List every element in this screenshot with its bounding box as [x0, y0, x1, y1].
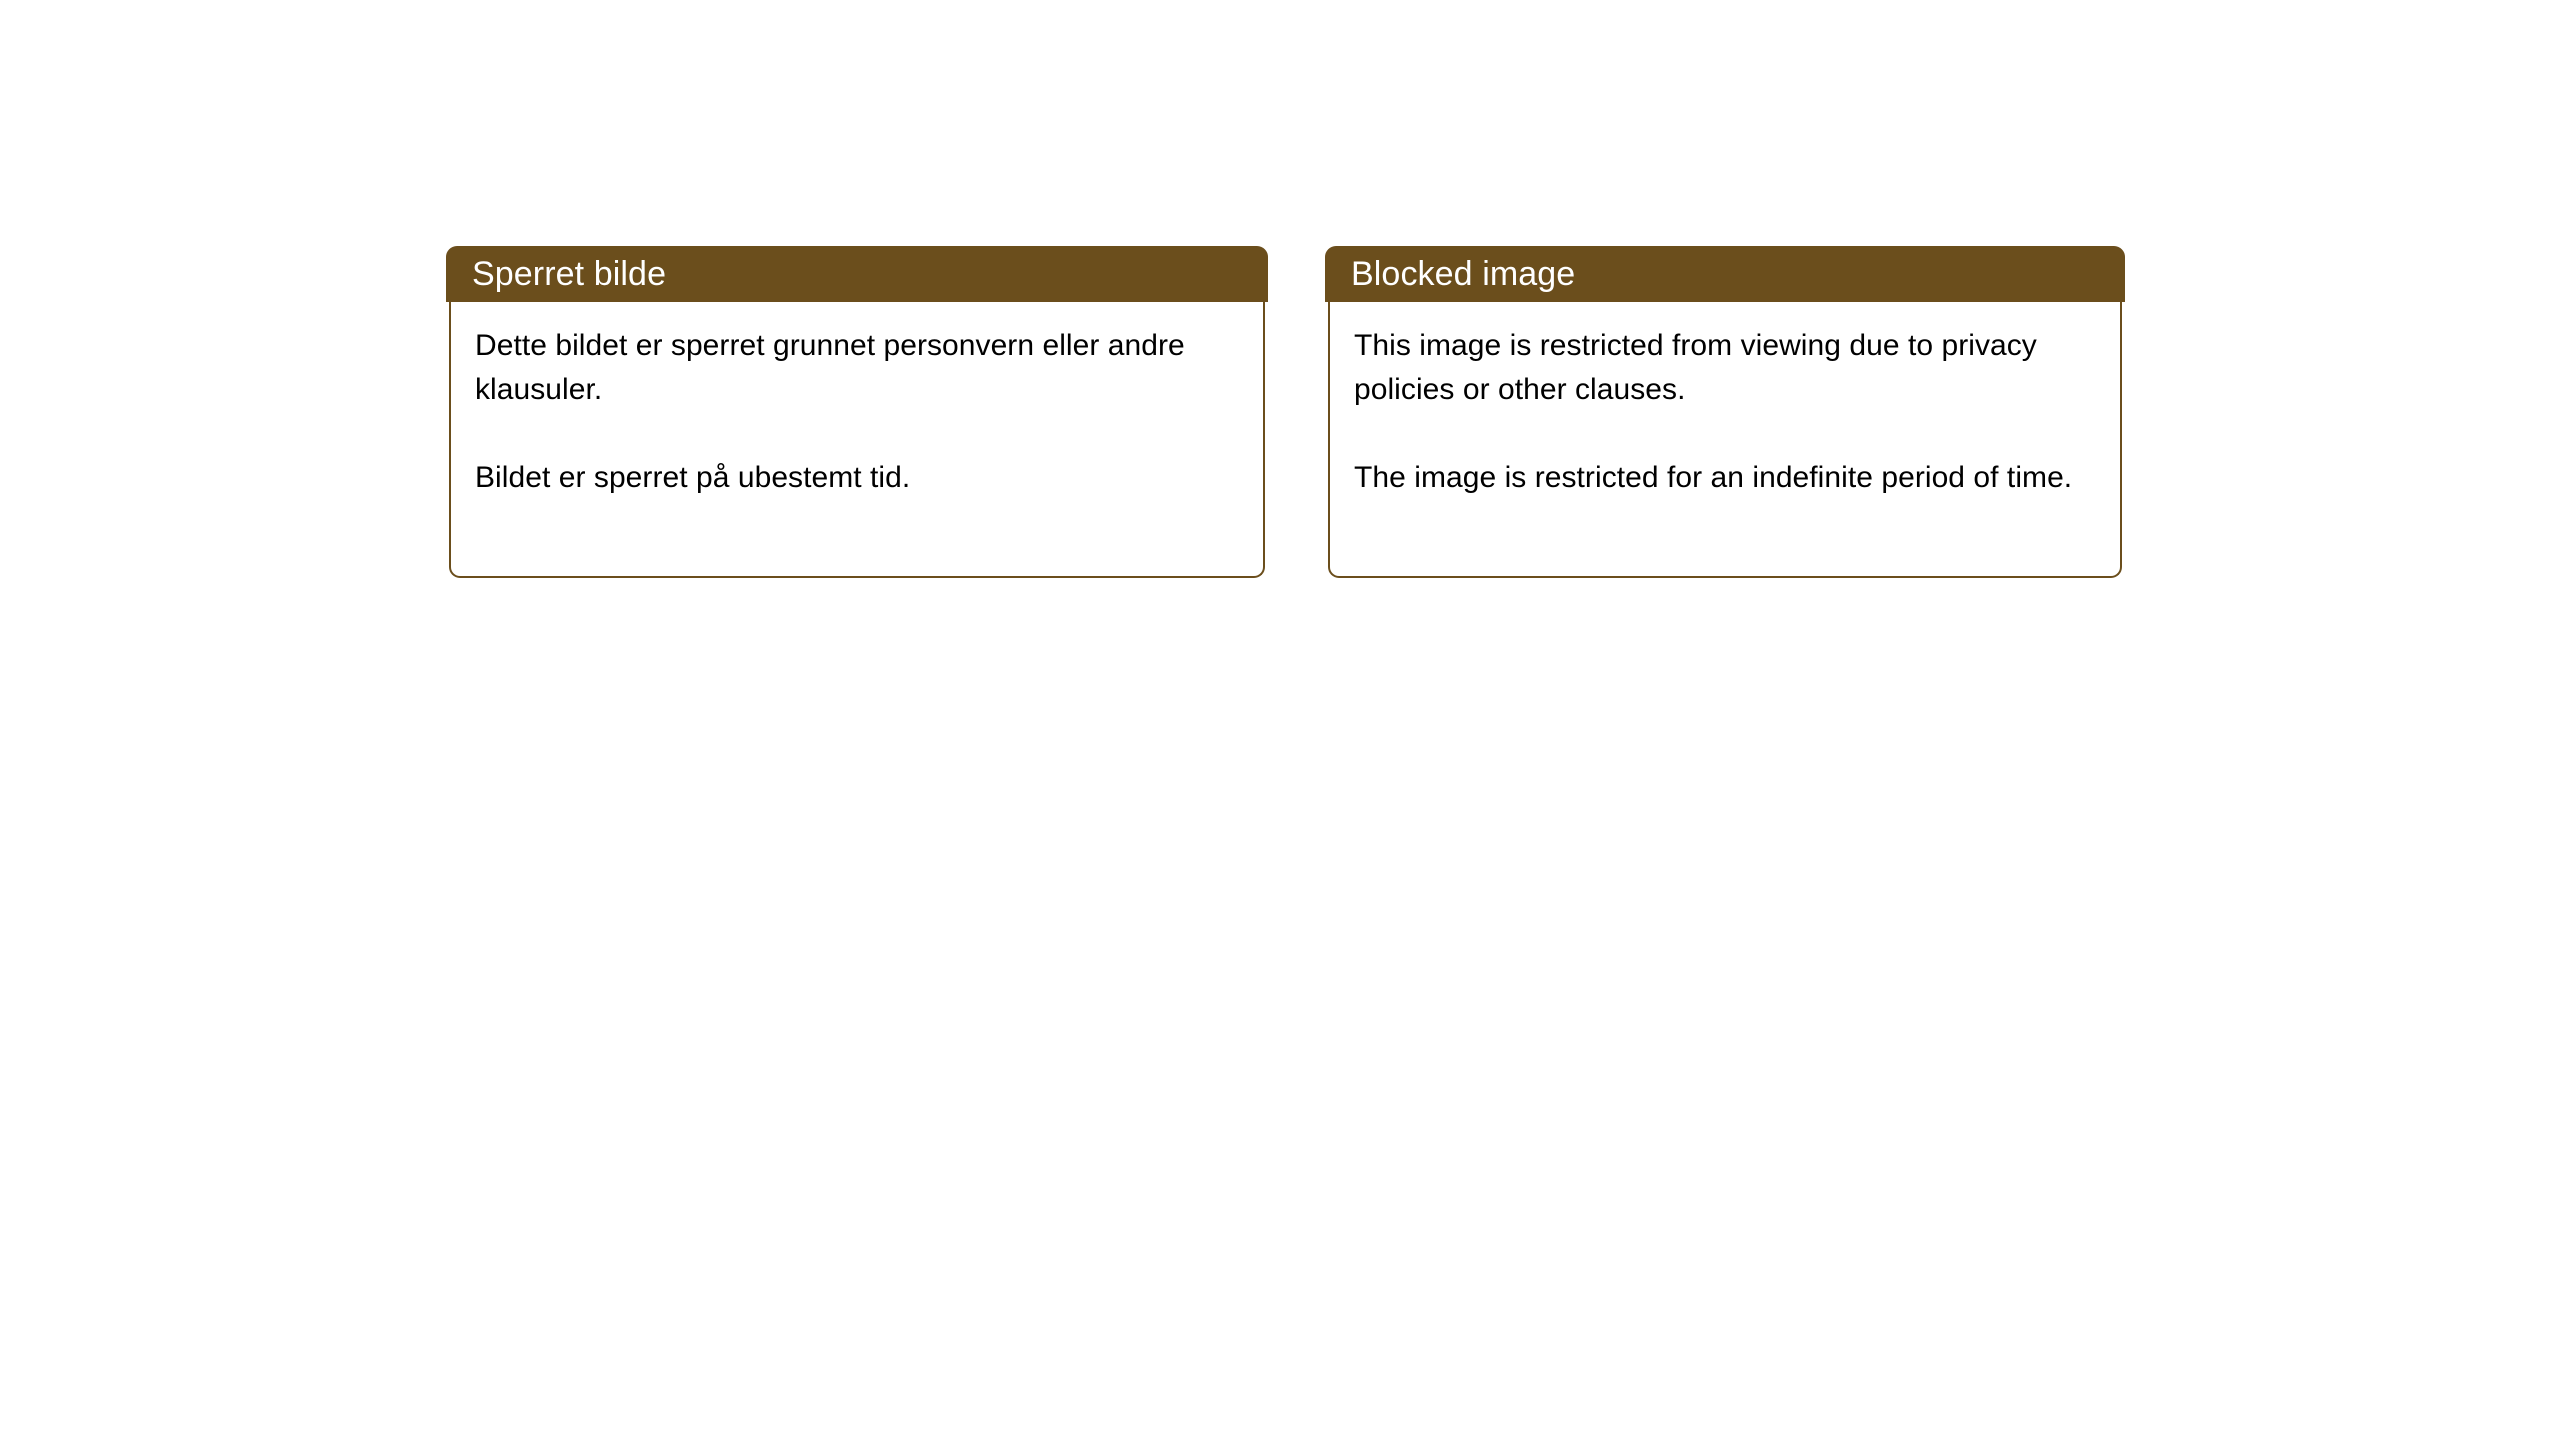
page-canvas: Sperret bilde Dette bildet er sperret gr… [0, 0, 2560, 1440]
notice-title-en: Blocked image [1351, 257, 1575, 291]
notice-header-en: Blocked image [1325, 246, 2125, 302]
notice-header-no: Sperret bilde [446, 246, 1268, 302]
notice-body-en: This image is restricted from viewing du… [1328, 302, 2122, 578]
notice-body-no: Dette bildet er sperret grunnet personve… [449, 302, 1265, 578]
blocked-image-notice-card-en: Blocked image This image is restricted f… [1328, 246, 2122, 578]
blocked-image-notice-card-no: Sperret bilde Dette bildet er sperret gr… [449, 246, 1265, 578]
notice-title-no: Sperret bilde [472, 257, 666, 291]
notice-paragraph: This image is restricted from viewing du… [1354, 324, 2096, 412]
notice-paragraph: Dette bildet er sperret grunnet personve… [475, 324, 1195, 412]
notice-paragraph: The image is restricted for an indefinit… [1354, 456, 2096, 500]
notice-paragraph: Bildet er sperret på ubestemt tid. [475, 456, 1195, 500]
blocked-image-notice-row: Sperret bilde Dette bildet er sperret gr… [449, 246, 2122, 578]
